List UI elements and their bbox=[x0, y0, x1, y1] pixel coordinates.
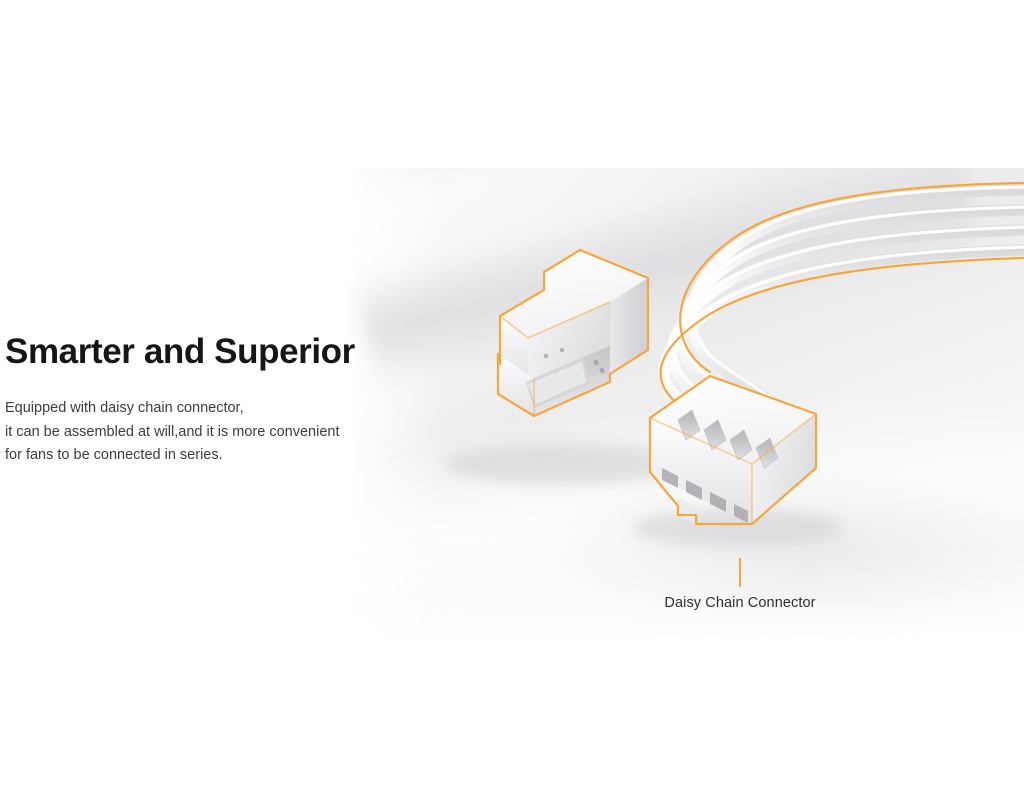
description-line-3: for fans to be connected in series. bbox=[5, 444, 425, 467]
page-title: Smarter and Superior bbox=[5, 332, 425, 371]
product-illustration bbox=[348, 168, 1024, 658]
description-line-2: it can be assembled at will,and it is mo… bbox=[5, 421, 425, 444]
description-paragraph: Equipped with daisy chain connector, it … bbox=[5, 397, 425, 467]
callout-leader-line bbox=[739, 558, 741, 587]
marketing-copy: Smarter and Superior Equipped with daisy… bbox=[5, 332, 425, 468]
callout-label: Daisy Chain Connector bbox=[560, 595, 920, 611]
description-line-1: Equipped with daisy chain connector, bbox=[5, 397, 425, 420]
male-4-pin-connector bbox=[498, 250, 648, 416]
product-photo bbox=[348, 168, 1024, 658]
